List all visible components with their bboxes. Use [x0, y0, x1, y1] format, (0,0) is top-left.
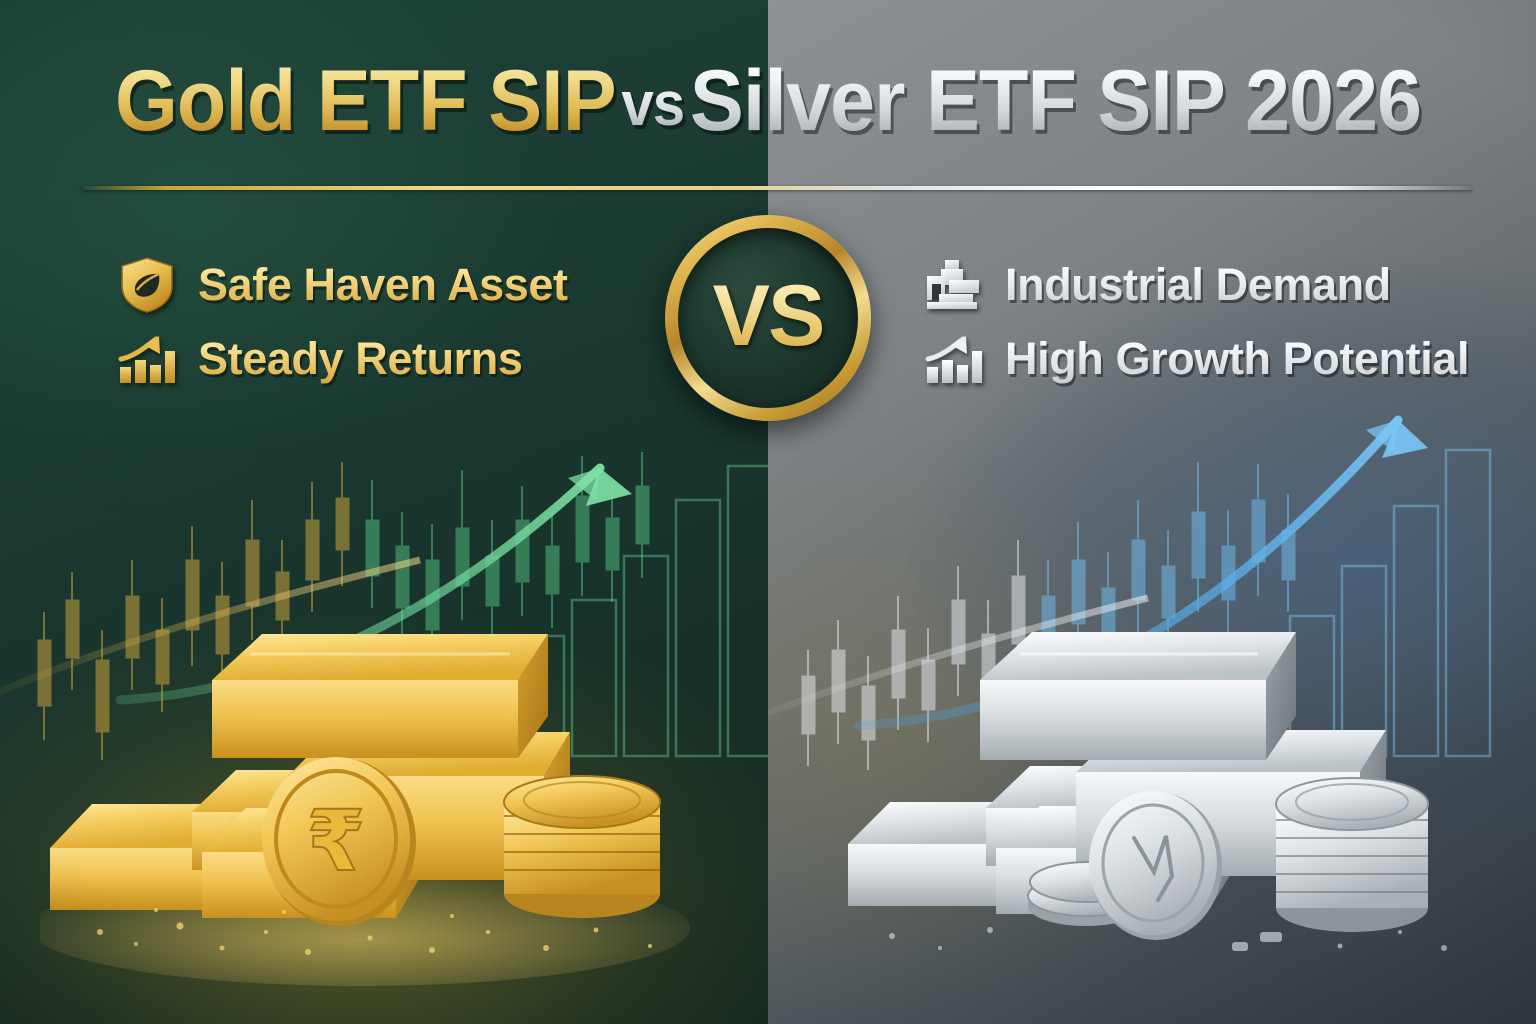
- bar-chart-growth-icon: [925, 330, 983, 388]
- vs-badge: VS: [665, 215, 871, 421]
- feature-label: Steady Returns: [198, 333, 523, 385]
- factory-industry-icon: [925, 256, 983, 314]
- right-panel-background: [768, 0, 1536, 1024]
- feature-safe-haven-asset[interactable]: Safe Haven Asset: [118, 248, 568, 322]
- vs-badge-inner: VS: [678, 228, 858, 408]
- feature-label: High Growth Potential: [1005, 333, 1469, 385]
- vs-badge-label: VS: [713, 273, 824, 359]
- title-gold-part: Gold ETF SIP: [115, 53, 616, 149]
- poster-canvas: ₹: [0, 0, 1536, 1024]
- silver-feature-list: Industrial Demand High Growth Potential: [925, 248, 1469, 396]
- left-background-chart-art: [0, 0, 768, 1024]
- shield-check-icon: [118, 256, 176, 314]
- page-title: Gold ETF SIPvsSilver ETF SIP 2026: [46, 58, 1490, 144]
- feature-label: Industrial Demand: [1005, 259, 1391, 311]
- title-silver-part: Silver ETF SIP 2026: [690, 53, 1421, 149]
- feature-label: Safe Haven Asset: [198, 259, 568, 311]
- left-panel-background: [0, 0, 768, 1024]
- feature-high-growth-potential[interactable]: High Growth Potential: [925, 322, 1469, 396]
- bar-chart-growth-icon: [118, 330, 176, 388]
- gold-feature-list: Safe Haven Asset Steady Returns: [118, 248, 568, 396]
- title-vs-word: vs: [616, 70, 690, 139]
- right-background-chart-art: [768, 0, 1536, 1024]
- title-divider: [82, 186, 1472, 190]
- feature-steady-returns[interactable]: Steady Returns: [118, 322, 568, 396]
- feature-industrial-demand[interactable]: Industrial Demand: [925, 248, 1469, 322]
